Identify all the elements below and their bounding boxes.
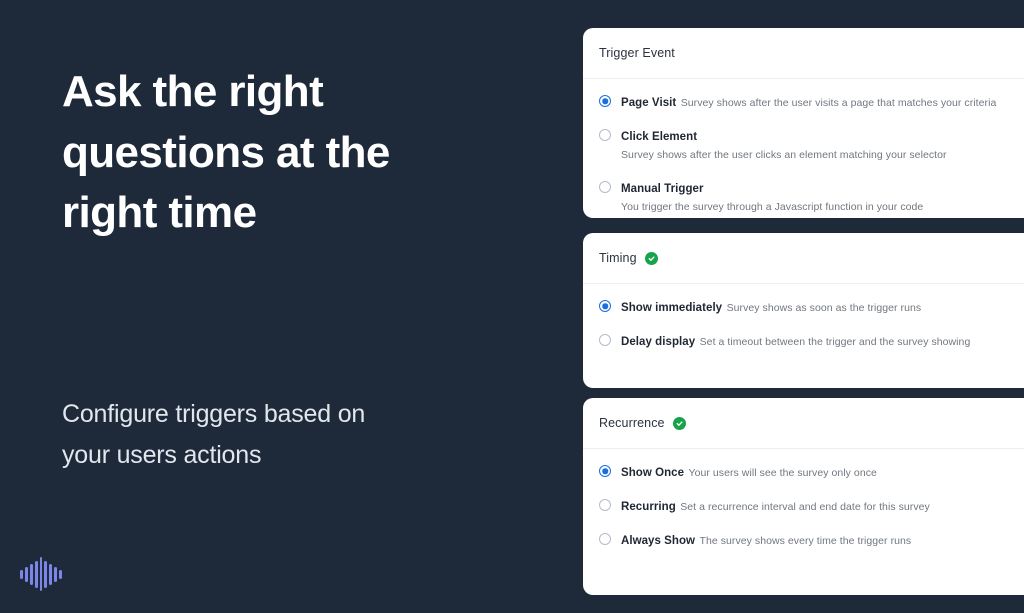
waveform-bar (59, 570, 62, 579)
radio-group-recurrence: Show Once Your users will see the survey… (583, 449, 1024, 550)
card-header: Trigger Event (583, 28, 1024, 79)
waveform-bar (44, 561, 47, 588)
radio-label: Show Once (621, 467, 684, 479)
settings-cards: Trigger Event Page Visit Survey shows af… (583, 0, 1024, 613)
check-circle-icon (673, 417, 686, 430)
radio-description: Set a recurrence interval and end date f… (680, 501, 930, 513)
radio-option-manual-trigger[interactable]: Manual Trigger You trigger the survey th… (599, 179, 1008, 215)
check-circle-icon (645, 252, 658, 265)
waveform-bar (40, 557, 43, 591)
page-title: Ask the right questions at the right tim… (62, 62, 462, 244)
radio-indicator[interactable] (599, 533, 611, 545)
radio-option-show-once[interactable]: Show Once Your users will see the survey… (599, 463, 1008, 481)
radio-group-timing: Show immediately Survey shows as soon as… (583, 284, 1024, 350)
radio-indicator-selected[interactable] (599, 95, 611, 107)
radio-description: Survey shows as soon as the trigger runs (727, 302, 922, 314)
radio-option-recurring[interactable]: Recurring Set a recurrence interval and … (599, 497, 1008, 515)
waveform-bar (49, 564, 52, 585)
radio-label: Show immediately (621, 302, 722, 314)
radio-label: Delay display (621, 336, 695, 348)
radio-description: Your users will see the survey only once (689, 467, 877, 479)
radio-option-delay-display[interactable]: Delay display Set a timeout between the … (599, 332, 1008, 350)
radio-option-page-visit[interactable]: Page Visit Survey shows after the user v… (599, 93, 1008, 111)
radio-label: Recurring (621, 501, 676, 513)
card-timing: Timing Show immediately Survey shows as … (583, 233, 1024, 388)
radio-option-show-immediately[interactable]: Show immediately Survey shows as soon as… (599, 298, 1008, 316)
card-recurrence: Recurrence Show Once Your users will see… (583, 398, 1024, 595)
radio-description: Survey shows after the user visits a pag… (681, 97, 997, 109)
page-subtitle: Configure triggers based on your users a… (62, 394, 372, 475)
card-title: Recurrence (599, 416, 665, 430)
radio-description: Set a timeout between the trigger and th… (700, 336, 971, 348)
radio-indicator-selected[interactable] (599, 465, 611, 477)
waveform-icon (20, 556, 62, 592)
waveform-bar (30, 564, 33, 585)
radio-label: Manual Trigger (621, 183, 704, 195)
radio-indicator-selected[interactable] (599, 300, 611, 312)
radio-description: You trigger the survey through a Javascr… (621, 201, 923, 213)
radio-indicator[interactable] (599, 181, 611, 193)
radio-description: The survey shows every time the trigger … (700, 535, 912, 547)
waveform-bar (25, 567, 28, 582)
radio-label: Click Element (621, 131, 697, 143)
waveform-bar (20, 570, 23, 579)
radio-label: Page Visit (621, 97, 676, 109)
radio-description: Survey shows after the user clicks an el… (621, 149, 947, 161)
radio-indicator[interactable] (599, 334, 611, 346)
card-title: Timing (599, 251, 637, 265)
radio-group-trigger-event: Page Visit Survey shows after the user v… (583, 79, 1024, 216)
card-title: Trigger Event (599, 46, 675, 60)
radio-label: Always Show (621, 535, 695, 547)
radio-indicator[interactable] (599, 499, 611, 511)
card-trigger-event: Trigger Event Page Visit Survey shows af… (583, 28, 1024, 218)
waveform-bar (35, 561, 38, 588)
card-header: Recurrence (583, 398, 1024, 449)
radio-indicator[interactable] (599, 129, 611, 141)
waveform-bar (54, 567, 57, 582)
hero-panel: Ask the right questions at the right tim… (0, 0, 583, 613)
radio-option-click-element[interactable]: Click Element Survey shows after the use… (599, 127, 1008, 163)
radio-option-always-show[interactable]: Always Show The survey shows every time … (599, 531, 1008, 549)
card-header: Timing (583, 233, 1024, 284)
